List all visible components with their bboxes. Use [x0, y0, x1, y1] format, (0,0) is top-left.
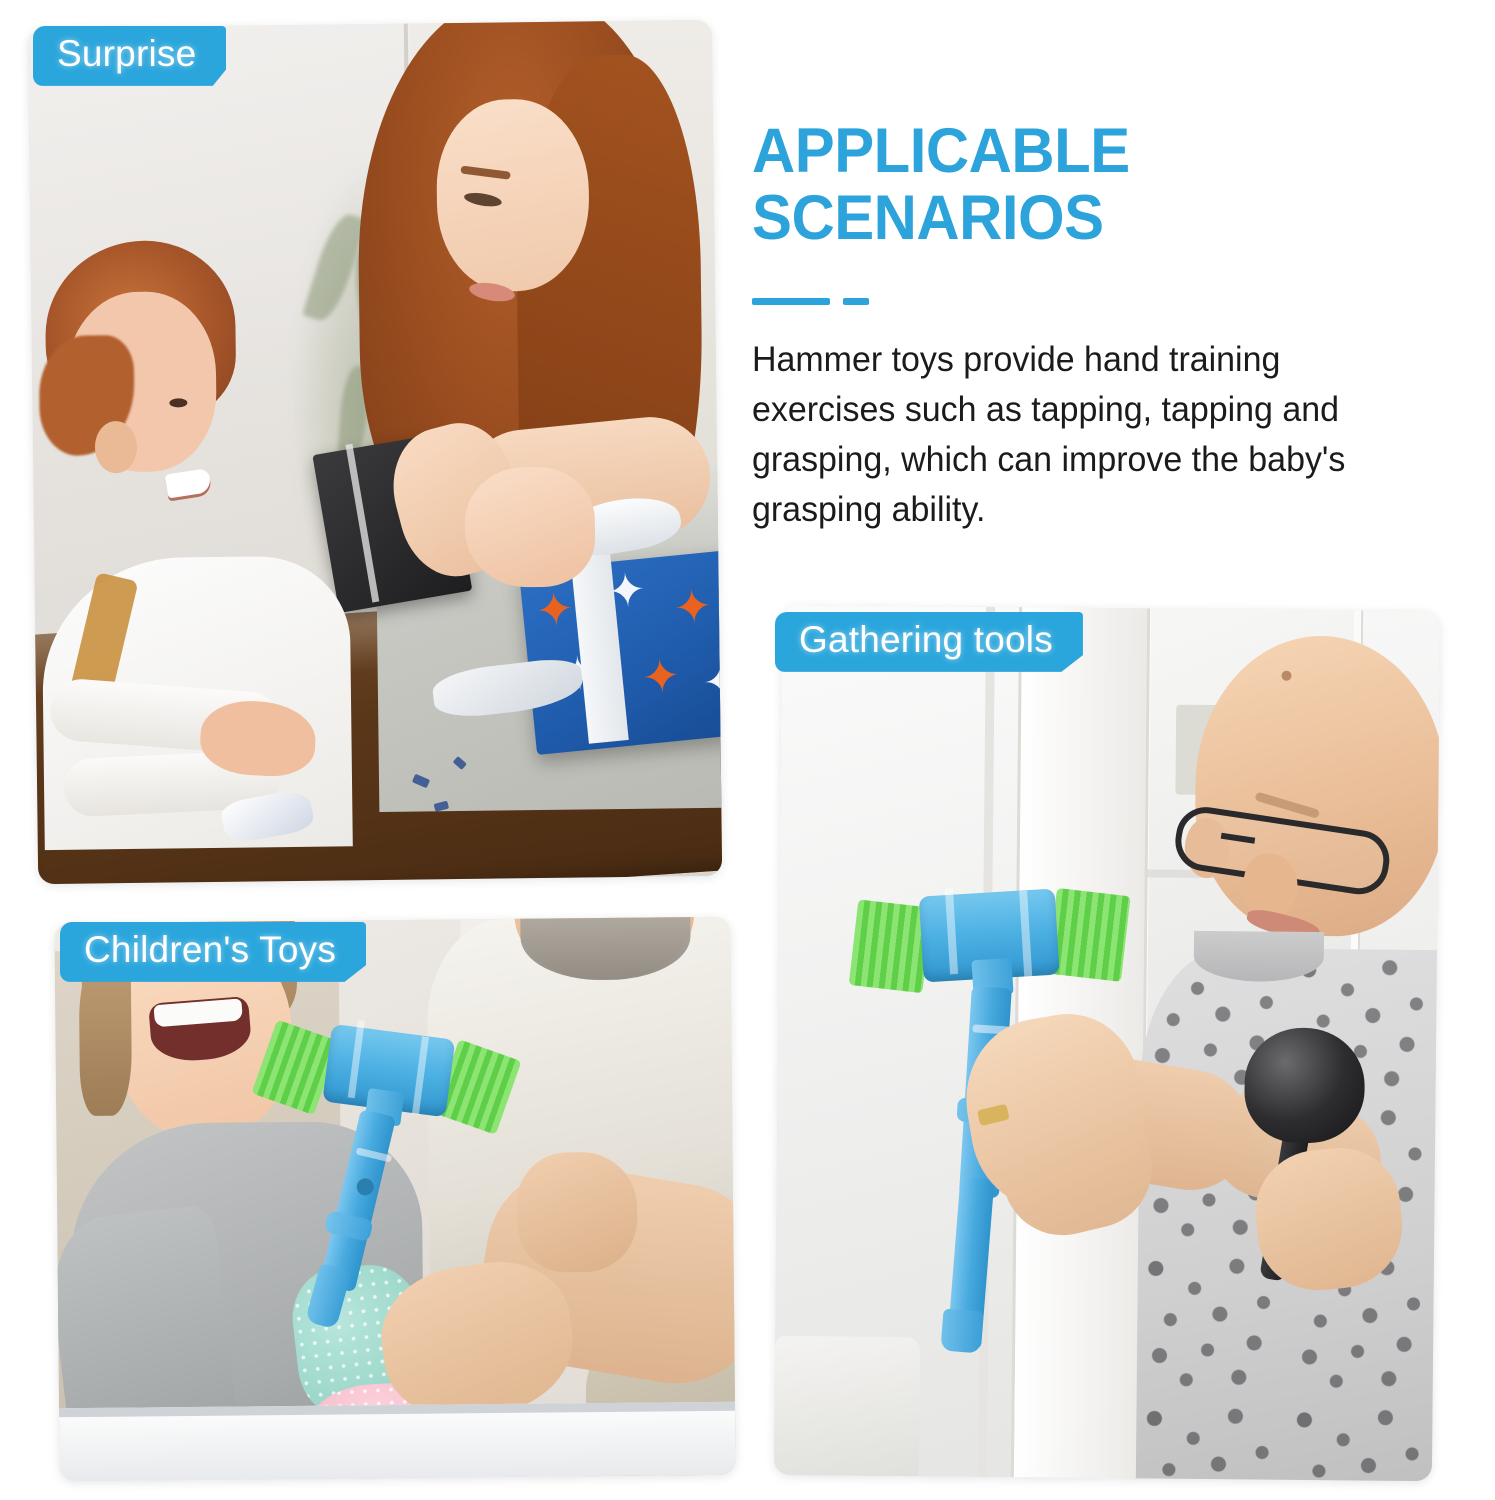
- badge-children-toys: Children's Toys: [60, 922, 366, 982]
- scene-surprise: ✦ ✦ ✦ ✦ ✦ ✦ ✦: [28, 20, 722, 884]
- photo-panel-surprise: ✦ ✦ ✦ ✦ ✦ ✦ ✦: [28, 20, 722, 884]
- divider-dash-long: [752, 298, 830, 305]
- page-title: APPLICABLE SCENARIOS: [752, 118, 1408, 252]
- scene-children-toys: [54, 917, 735, 1481]
- body-paragraph: Hammer toys provide hand training exerci…: [752, 335, 1404, 535]
- headline-line-1: APPLICABLE: [752, 118, 1408, 185]
- headline-line-2: SCENARIOS: [752, 185, 1408, 252]
- badge-surprise: Surprise: [33, 26, 226, 86]
- photo-panel-children-toys: [54, 917, 735, 1481]
- badge-gathering-tools-label: Gathering tools: [799, 621, 1053, 660]
- text-column: APPLICABLE SCENARIOS Hammer toys provide…: [752, 118, 1442, 535]
- divider-dash-short: [843, 298, 869, 305]
- photo-panel-gathering-tools: [774, 605, 1440, 1481]
- reflex-hammer: [1244, 1027, 1365, 1143]
- badge-gathering-tools: Gathering tools: [775, 612, 1083, 672]
- scene-gathering-tools: [774, 605, 1440, 1481]
- badge-surprise-label: Surprise: [57, 35, 196, 74]
- badge-children-toys-label: Children's Toys: [84, 931, 336, 970]
- divider: [752, 298, 1442, 305]
- infographic-page: ✦ ✦ ✦ ✦ ✦ ✦ ✦: [0, 0, 1495, 1500]
